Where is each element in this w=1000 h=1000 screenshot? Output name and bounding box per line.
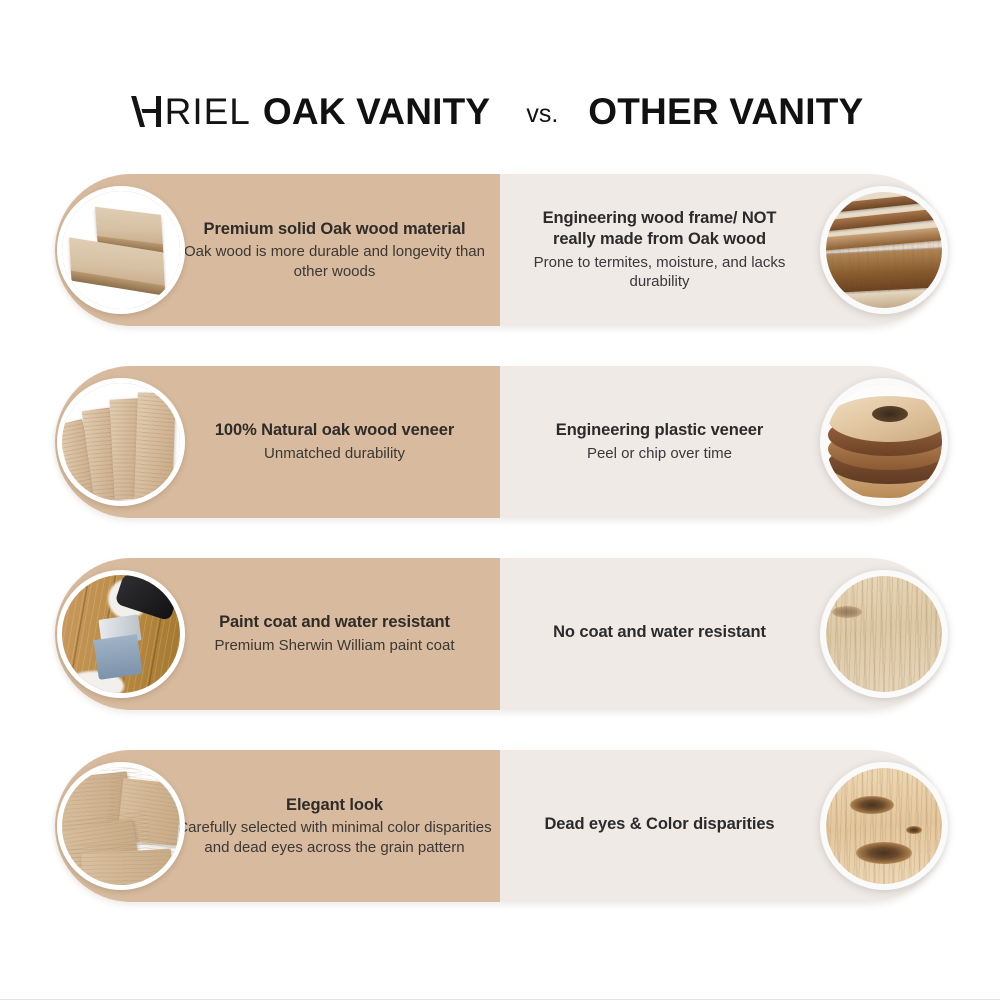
comparison-row: Paint coat and water resistant Premium S…: [0, 558, 1000, 710]
engineered-wood-planks-photo: [820, 186, 948, 314]
ariel-a-logomark-icon: [137, 96, 163, 126]
row-subline: Premium Sherwin William paint coat: [214, 636, 454, 656]
row-pill: Elegant look Carefully selected with min…: [55, 750, 945, 902]
plastic-edge-banding-coils-photo: [820, 378, 948, 506]
comparison-rows: Premium solid Oak wood material Oak wood…: [0, 174, 1000, 942]
row-headline: No coat and water resistant: [553, 622, 766, 643]
row-headline: Paint coat and water resistant: [219, 612, 450, 633]
row-headline: Premium solid Oak wood material: [204, 219, 466, 240]
product-title: OAK VANITY: [263, 91, 490, 133]
other-side-text: No coat and water resistant: [524, 558, 795, 710]
ariel-brand-logo: RIEL: [137, 91, 251, 133]
row-pill: Paint coat and water resistant Premium S…: [55, 558, 945, 710]
comparison-row: Premium solid Oak wood material Oak wood…: [0, 174, 1000, 326]
uncoated-wood-grain-photo: [820, 570, 948, 698]
ariel-side-text: 100% Natural oak wood veneer Unmatched d…: [175, 366, 494, 518]
row-subline: Carefully selected with minimal color di…: [175, 818, 494, 857]
other-side-text: Engineering wood frame/ NOT really made …: [524, 174, 795, 326]
comparison-row: Elegant look Carefully selected with min…: [0, 750, 1000, 902]
row-pill: Premium solid Oak wood material Oak wood…: [55, 174, 945, 326]
row-headline: Dead eyes & Color disparities: [544, 814, 774, 835]
knotty-wood-grain-photo: [820, 762, 948, 890]
comparison-row: 100% Natural oak wood veneer Unmatched d…: [0, 366, 1000, 518]
ariel-side-text: Elegant look Carefully selected with min…: [175, 750, 494, 902]
row-subline: Prone to termites, moisture, and lacks d…: [524, 253, 795, 292]
stacked-oak-planks-photo: [57, 762, 185, 890]
other-side-text: Dead eyes & Color disparities: [524, 750, 795, 902]
row-headline: Engineering plastic veneer: [556, 420, 763, 441]
row-subline: Peel or chip over time: [587, 444, 732, 464]
row-subline: Unmatched durability: [264, 444, 405, 464]
comparison-title: RIEL OAK VANITY vs. OTHER VANITY: [0, 86, 1000, 138]
other-title: OTHER VANITY: [588, 91, 863, 133]
versus-label: vs.: [526, 100, 558, 129]
ariel-side-text: Paint coat and water resistant Premium S…: [175, 558, 494, 710]
brand-name-rest: RIEL: [165, 91, 251, 133]
solid-oak-boards-photo: [57, 186, 185, 314]
row-headline: Engineering wood frame/ NOT really made …: [524, 208, 795, 250]
ariel-side-text: Premium solid Oak wood material Oak wood…: [175, 174, 494, 326]
row-pill: 100% Natural oak wood veneer Unmatched d…: [55, 366, 945, 518]
row-headline: 100% Natural oak wood veneer: [215, 420, 454, 441]
row-headline: Elegant look: [286, 795, 383, 816]
paint-brush-on-wood-photo: [57, 570, 185, 698]
row-subline: Oak wood is more durable and longevity t…: [175, 242, 494, 281]
other-side-text: Engineering plastic veneer Peel or chip …: [524, 366, 795, 518]
oak-veneer-sheets-photo: [57, 378, 185, 506]
